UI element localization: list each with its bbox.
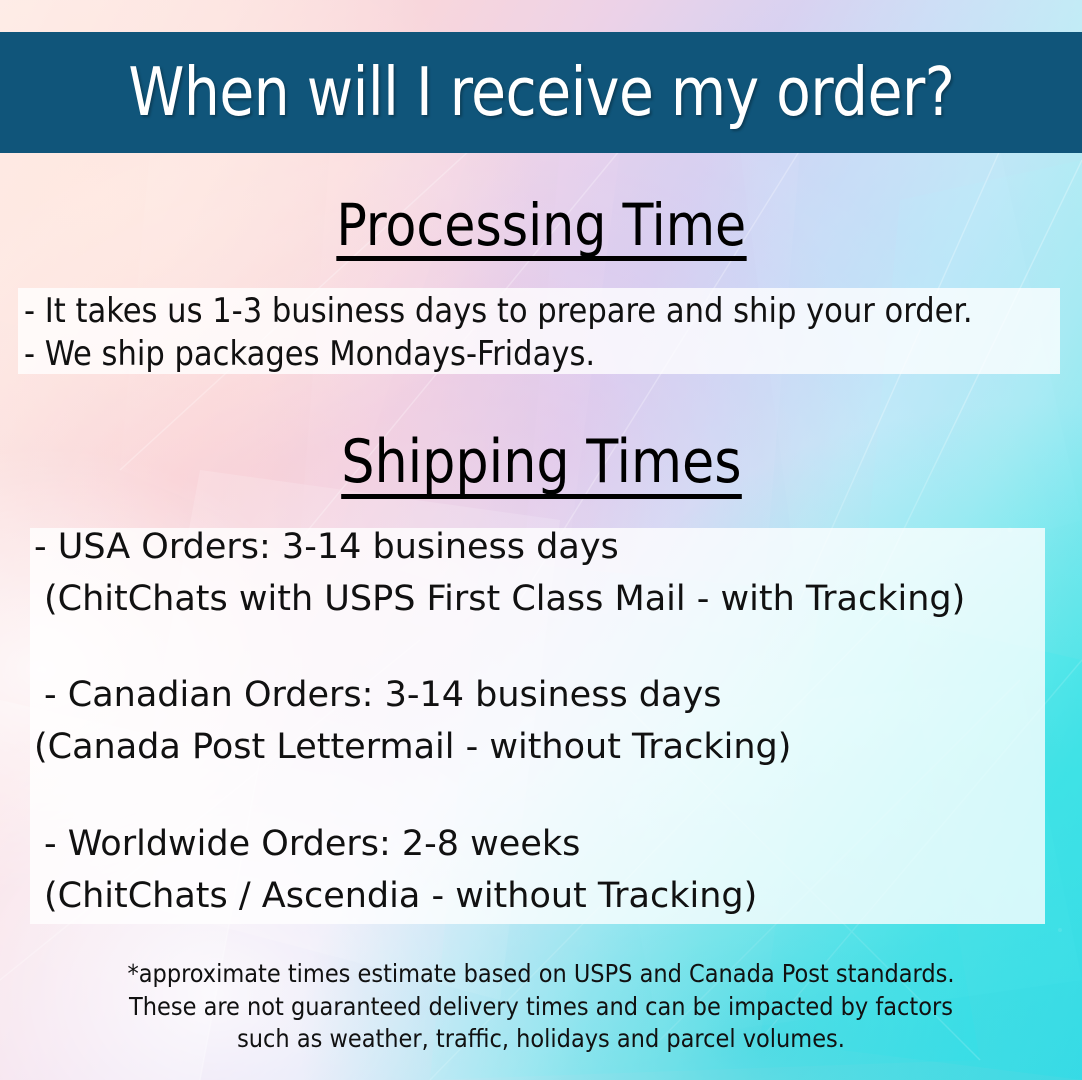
footnote-line-3: such as weather, traffic, holidays and p… [0, 1023, 1082, 1056]
shipping-entry-usa: - USA Orders: 3-14 business days (ChitCh… [34, 530, 965, 617]
header-banner: When will I receive my order? [0, 32, 1082, 153]
heading-processing-time: Processing Time [0, 196, 1082, 261]
banner-title: When will I receive my order? [128, 59, 954, 126]
processing-line-2: - We ship packages Mondays-Fridays. [24, 337, 595, 371]
heading-processing-time-label: Processing Time [336, 196, 746, 261]
processing-line-1: - It takes us 1-3 business days to prepa… [24, 294, 973, 328]
shipping-entry-canada-line-2: (Canada Post Lettermail - without Tracki… [34, 730, 791, 765]
shipping-entry-canada: - Canadian Orders: 3-14 business days (C… [34, 678, 791, 765]
heading-shipping-times: Shipping Times [0, 432, 1082, 499]
footnote-line-2: These are not guaranteed delivery times … [0, 991, 1082, 1024]
heading-shipping-times-label: Shipping Times [341, 432, 741, 499]
shipping-entry-usa-line-1: - USA Orders: 3-14 business days [34, 530, 965, 565]
shipping-entry-usa-line-2: (ChitChats with USPS First Class Mail - … [34, 582, 965, 617]
shipping-info-graphic: When will I receive my order? Processing… [0, 0, 1082, 1080]
footnote-disclaimer: *approximate times estimate based on USP… [0, 958, 1082, 1056]
shipping-entry-canada-line-1: - Canadian Orders: 3-14 business days [34, 678, 791, 713]
shipping-entry-worldwide: - Worldwide Orders: 2-8 weeks (ChitChats… [34, 827, 757, 914]
shipping-entry-worldwide-line-1: - Worldwide Orders: 2-8 weeks [34, 827, 757, 862]
footnote-line-1: *approximate times estimate based on USP… [0, 958, 1082, 991]
shipping-entry-worldwide-line-2: (ChitChats / Ascendia - without Tracking… [34, 879, 757, 914]
